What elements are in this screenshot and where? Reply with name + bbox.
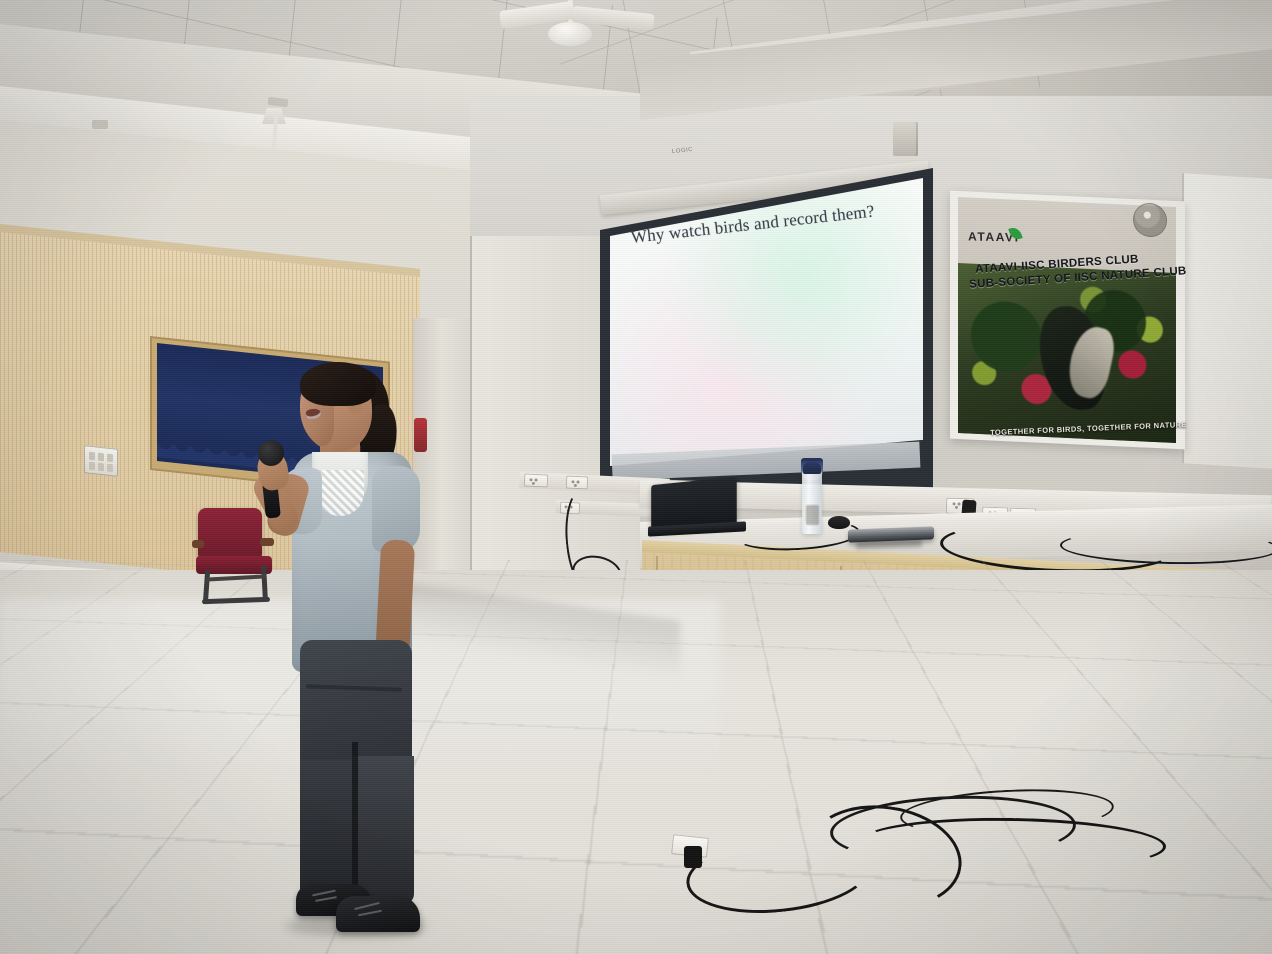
trouser-leg-left (300, 760, 358, 900)
collar-lace-trim (316, 470, 364, 516)
trouser-inseam (352, 742, 358, 892)
trouser-leg-right (352, 756, 414, 904)
lecture-hall-photo: LOGIC Why watch birds and record them? A… (0, 0, 1272, 954)
shoe-right (336, 896, 420, 932)
screen-mount-bracket (893, 122, 918, 156)
microphone-icon[interactable] (258, 440, 284, 466)
wall-switch-plate[interactable] (84, 445, 118, 477)
ceiling-fan-2-hub (548, 22, 592, 46)
bottle-cap[interactable] (803, 462, 821, 474)
whiteboard[interactable] (1182, 173, 1272, 469)
iisc-emblem-icon (1133, 202, 1167, 237)
computer-mouse[interactable] (828, 516, 850, 529)
wall-socket[interactable] (524, 473, 549, 487)
hair-front (300, 362, 376, 406)
bottle-contents (806, 505, 819, 525)
chair-armrest (192, 540, 204, 548)
ceiling-vent-icon (92, 120, 108, 129)
